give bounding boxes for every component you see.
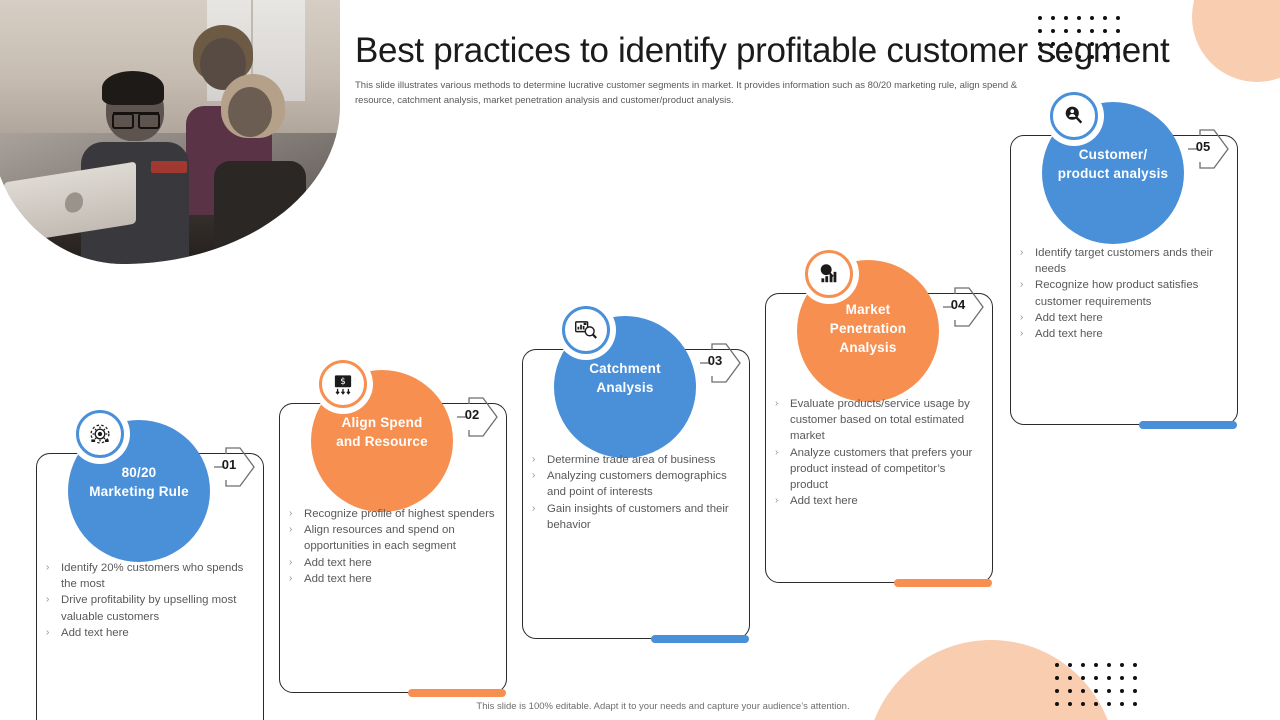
bullet-list-05: ›Identify target customers ands their ne…	[1020, 245, 1228, 342]
bullet-list-01: ›Identify 20% customers who spends the m…	[46, 560, 254, 641]
chevron-right-icon: ›	[1020, 245, 1035, 277]
step-number-badge-01: 01	[214, 446, 258, 488]
chevron-right-icon: ›	[46, 592, 61, 624]
step-number-02: 02	[459, 407, 485, 422]
step-number-03: 03	[702, 353, 728, 368]
step-number-badge-03: 03	[700, 342, 744, 384]
list-item: ›Add text here	[1020, 326, 1228, 342]
list-item: ›Add text here	[289, 555, 497, 571]
chevron-right-icon: ›	[1020, 277, 1035, 309]
chevron-right-icon: ›	[532, 452, 547, 468]
list-item: ›Recognize how product satisfies custome…	[1020, 277, 1228, 309]
chevron-right-icon: ›	[289, 555, 304, 571]
market-bars-search-icon	[801, 246, 857, 302]
slide-footer-note: This slide is 100% editable. Adapt it to…	[428, 701, 898, 712]
step-title-05: Customer/ product analysis	[1035, 145, 1191, 183]
chevron-right-icon: ›	[532, 501, 547, 533]
list-item: ›Analyze customers that prefers your pro…	[775, 445, 983, 494]
chevron-right-icon: ›	[775, 396, 790, 445]
card-accent-bar-05	[1139, 421, 1237, 429]
card-accent-bar-04	[894, 579, 992, 587]
step-number-05: 05	[1190, 139, 1216, 154]
step-number-04: 04	[945, 297, 971, 312]
chevron-right-icon: ›	[1020, 326, 1035, 342]
decor-circle-top-right	[1192, 0, 1280, 82]
list-item: ›Analyzing customers demographics and po…	[532, 468, 740, 500]
page-subtitle: This slide illustrates various methods t…	[355, 79, 1045, 108]
list-item: ›Align resources and spend on opportunit…	[289, 522, 497, 554]
list-item: ›Identify 20% customers who spends the m…	[46, 560, 254, 592]
chevron-right-icon: ›	[775, 445, 790, 494]
bullet-list-02: ›Recognize profile of highest spenders ›…	[289, 506, 497, 587]
card-accent-bar-03	[651, 635, 749, 643]
list-item: ›Drive profitability by upselling most v…	[46, 592, 254, 624]
bullet-list-04: ›Evaluate products/service usage by cust…	[775, 396, 983, 509]
list-item: ›Determine trade area of business	[532, 452, 740, 468]
list-item: ›Add text here	[289, 571, 497, 587]
step-number-badge-02: 02	[457, 396, 501, 438]
list-item: ›Add text here	[775, 493, 983, 509]
card-accent-bar-02	[408, 689, 506, 697]
step-title-03: Catchment Analysis	[554, 359, 696, 397]
decor-dot-grid-bottom-right	[1055, 663, 1137, 706]
svg-text:$: $	[340, 377, 346, 387]
chart-search-icon	[558, 302, 614, 358]
step-title-01: 80/20 Marketing Rule	[68, 463, 210, 501]
list-item: ›Identify target customers ands their ne…	[1020, 245, 1228, 277]
gear-analytics-icon	[72, 406, 128, 462]
list-item: ›Recognize profile of highest spenders	[289, 506, 497, 522]
chevron-right-icon: ›	[775, 493, 790, 509]
chevron-right-icon: ›	[289, 571, 304, 587]
money-allocation-icon: $	[315, 356, 371, 412]
header-photo	[0, 0, 340, 264]
person-search-icon	[1046, 88, 1102, 144]
step-title-04: Market Penetration Analysis	[797, 300, 939, 357]
step-title-02: Align Spend and Resource	[311, 413, 453, 451]
header-photo-image	[0, 0, 340, 264]
chevron-right-icon: ›	[46, 560, 61, 592]
chevron-right-icon: ›	[289, 506, 304, 522]
list-item: ›Add text here	[1020, 310, 1228, 326]
step-number-01: 01	[216, 457, 242, 472]
list-item: ›Gain insights of customers and their be…	[532, 501, 740, 533]
list-item: ›Add text here	[46, 625, 254, 641]
chevron-right-icon: ›	[532, 468, 547, 500]
chevron-right-icon: ›	[289, 522, 304, 554]
bullet-list-03: ›Determine trade area of business ›Analy…	[532, 452, 740, 533]
step-number-badge-04: 04	[943, 286, 987, 328]
step-number-badge-05: 05	[1188, 128, 1232, 170]
list-item: ›Evaluate products/service usage by cust…	[775, 396, 983, 445]
chevron-right-icon: ›	[46, 625, 61, 641]
slide-root: Best practices to identify profitable cu…	[0, 0, 1280, 720]
chevron-right-icon: ›	[1020, 310, 1035, 326]
page-title: Best practices to identify profitable cu…	[355, 32, 1185, 71]
